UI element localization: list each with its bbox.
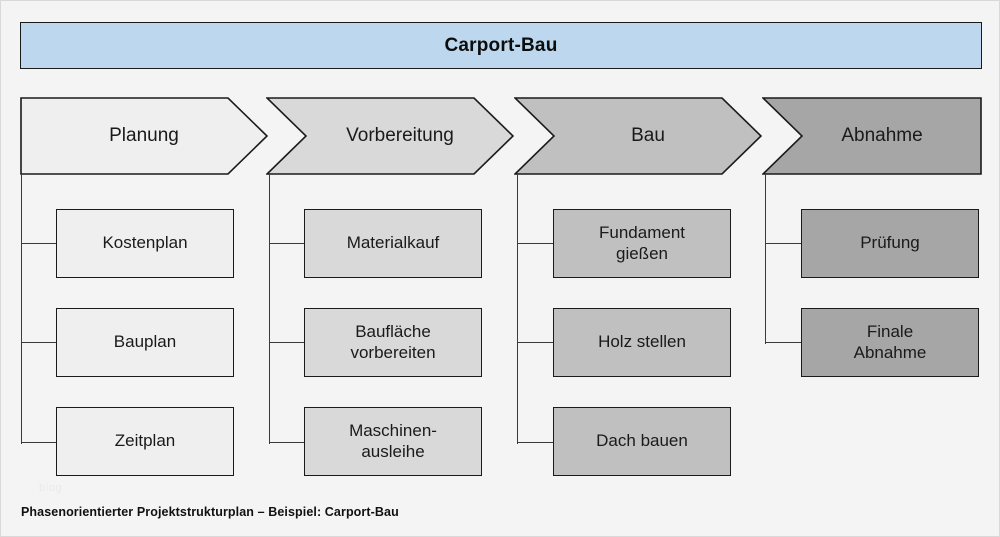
phase-chevron-vorbereitung[interactable]: Vorbereitung: [266, 97, 514, 175]
task-box-finale-abnahme[interactable]: Finale Abnahme: [801, 308, 979, 377]
connector-branch-vorbereitung-2: [269, 342, 304, 343]
connector-branch-bau-1: [517, 243, 553, 244]
task-box-holz-stellen[interactable]: Holz stellen: [553, 308, 731, 377]
task-label: Zeitplan: [115, 431, 175, 452]
task-label: Kostenplan: [102, 233, 187, 254]
connector-branch-abnahme-2: [765, 342, 801, 343]
connector-branch-abnahme-1: [765, 243, 801, 244]
task-label: Dach bauen: [596, 431, 688, 452]
connector-spine-vorbereitung: [269, 174, 270, 444]
task-box-kostenplan[interactable]: Kostenplan: [56, 209, 234, 278]
task-box-maschinenausleihe[interactable]: Maschinen- ausleihe: [304, 407, 482, 476]
phase-label-bau: Bau: [631, 125, 665, 147]
task-box-bauplan[interactable]: Bauplan: [56, 308, 234, 377]
phase-label-planung: Planung: [109, 125, 179, 147]
project-title-bar: Carport-Bau: [20, 22, 982, 69]
connector-branch-vorbereitung-3: [269, 442, 304, 443]
task-label: Prüfung: [860, 233, 920, 254]
task-box-pruefung[interactable]: Prüfung: [801, 209, 979, 278]
connector-branch-bau-3: [517, 442, 553, 443]
task-box-bauflaeche-vorbereiten[interactable]: Baufläche vorbereiten: [304, 308, 482, 377]
page-title: Carport-Bau: [444, 35, 557, 57]
connector-spine-abnahme: [765, 174, 766, 344]
task-box-fundament-giessen[interactable]: Fundament gießen: [553, 209, 731, 278]
phase-chevron-abnahme[interactable]: Abnahme: [762, 97, 982, 175]
connector-branch-planung-1: [21, 243, 56, 244]
task-label: Maschinen- ausleihe: [349, 421, 437, 462]
phase-chevron-planung[interactable]: Planung: [20, 97, 268, 175]
connector-branch-planung-3: [21, 442, 56, 443]
phase-label-vorbereitung: Vorbereitung: [346, 125, 454, 147]
connector-branch-vorbereitung-1: [269, 243, 304, 244]
task-box-materialkauf[interactable]: Materialkauf: [304, 209, 482, 278]
task-label: Holz stellen: [598, 332, 686, 353]
task-box-zeitplan[interactable]: Zeitplan: [56, 407, 234, 476]
connector-branch-planung-2: [21, 342, 56, 343]
connector-branch-bau-2: [517, 342, 553, 343]
phase-chevron-bau[interactable]: Bau: [514, 97, 762, 175]
task-label: Fundament gießen: [577, 223, 707, 264]
connector-spine-planung: [21, 174, 22, 444]
task-label: Materialkauf: [347, 233, 440, 254]
connector-spine-bau: [517, 174, 518, 444]
diagram-canvas: Carport-Bau Planung Vorbereitung Bau Abn…: [0, 0, 1000, 537]
phase-label-abnahme: Abnahme: [841, 125, 922, 147]
watermark-text: blog: [39, 482, 62, 494]
task-label: Bauplan: [114, 332, 176, 353]
task-box-dach-bauen[interactable]: Dach bauen: [553, 407, 731, 476]
diagram-caption: Phasenorientierter Projektstrukturplan –…: [21, 505, 399, 519]
task-label: Finale Abnahme: [835, 322, 945, 363]
task-label: Baufläche vorbereiten: [333, 322, 453, 363]
